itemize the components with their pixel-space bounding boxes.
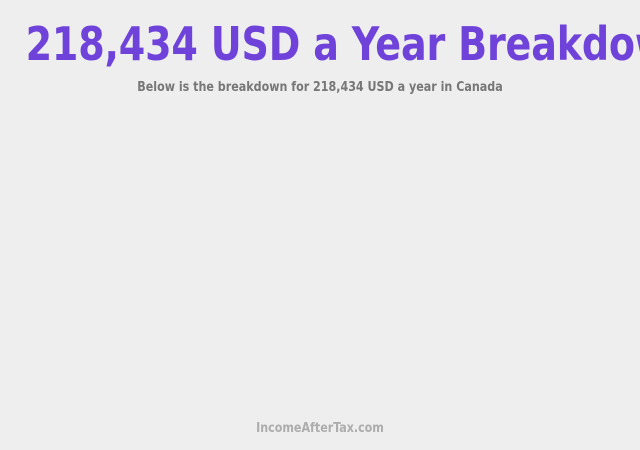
page-subtitle: Below is the breakdown for 218,434 USD a… (16, 80, 624, 96)
page-header: 218,434 USD a Year Breakdown Below is th… (0, 0, 640, 96)
page-title: 218,434 USD a Year Breakdown (26, 18, 615, 70)
site-credit: IncomeAfterTax.com (16, 421, 624, 436)
breakdown-content-area (0, 96, 640, 421)
page-footer: IncomeAfterTax.com (0, 421, 640, 450)
breakdown-page: 218,434 USD a Year Breakdown Below is th… (0, 0, 640, 450)
